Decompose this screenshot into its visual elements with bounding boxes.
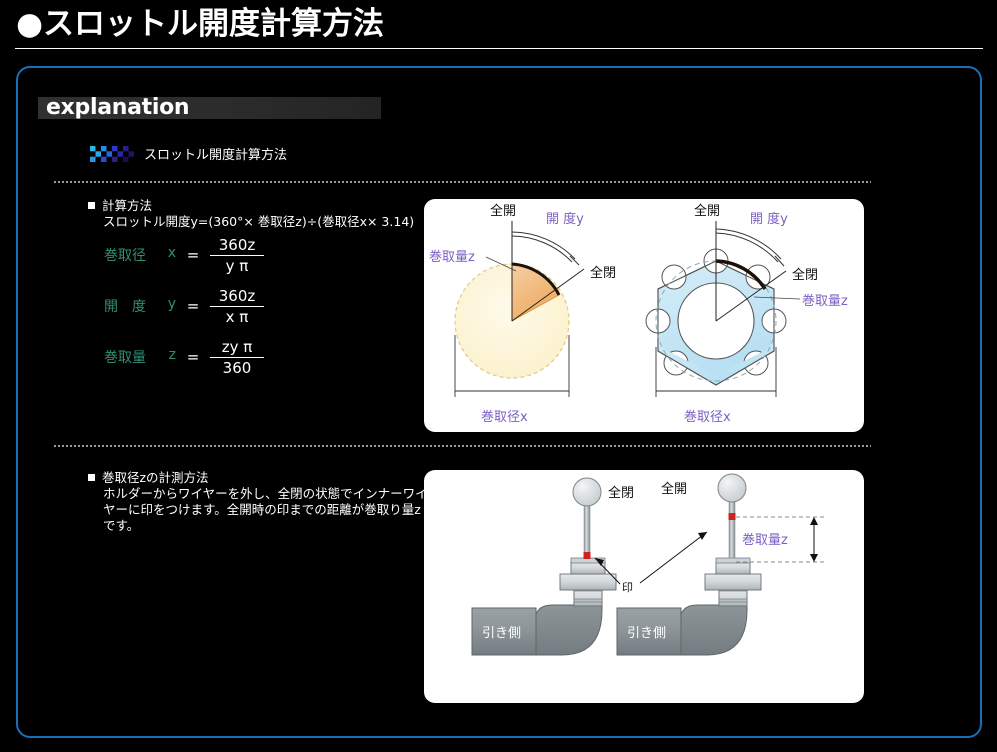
formula-fraction: zy π 360 — [210, 338, 264, 377]
subtitle-text: スロットル開度計算方法 — [144, 148, 287, 164]
section1-description: スロットル開度y=(360°× 巻取径z)÷(巻取径x× 3.14) — [103, 214, 414, 230]
dimension-label-z: 巻取量z — [742, 533, 788, 548]
formula-label: 開 度 y — [104, 296, 176, 316]
formula-equals: = — [176, 348, 210, 366]
right-label-angle: 開 度y — [750, 211, 788, 227]
fraction-denominator: 360 — [217, 358, 258, 377]
section-divider-1 — [54, 181, 871, 183]
right-throttle-assembly: 引き側 全開 — [617, 474, 761, 655]
formula-row: 開 度 y = 360z x π — [104, 283, 264, 329]
fraction-numerator: 360z — [213, 287, 262, 306]
section2-heading: 巻取径zの計測方法 — [88, 470, 209, 486]
left-label-full-closed: 全閉 — [590, 265, 616, 281]
formula-label: 巻取径 x — [104, 245, 176, 265]
right-wire-mark — [729, 513, 736, 520]
left-round-pulley: 全開 開 度y 全閉 巻取量z 巻取径x — [429, 203, 616, 425]
right-label-full-open: 全開 — [694, 203, 720, 219]
section2-line3: です。 — [103, 518, 139, 534]
right-label-pull-side: 引き側 — [627, 626, 666, 641]
winding-amount-dimension: 巻取量z — [736, 517, 824, 562]
bullet-square-icon — [88, 474, 95, 481]
formula-fraction: 360z x π — [210, 287, 264, 326]
formula-list: 巻取径 x = 360z y π 開 度 y = 360z x π — [104, 232, 264, 385]
formula-equals: = — [176, 246, 210, 264]
explanation-banner-label: explanation — [46, 93, 189, 123]
formula-fraction: 360z y π — [210, 236, 264, 275]
right-hex-pulley: 全開 開 度y 全閉 巻取量z 巻取径x — [646, 203, 848, 425]
diagram-panel-bottom: 引き側 全閉 — [424, 470, 864, 703]
left-label-angle: 開 度y — [546, 211, 584, 227]
left-throttle-assembly: 引き側 全閉 — [472, 478, 634, 655]
left-wire-mark — [584, 552, 591, 559]
section2-line2: ヤーに印をつけます。全開時の印までの距離が巻取り量z — [103, 502, 421, 518]
section2-line1: ホルダーからワイヤーを外し、全閉の状態でインナーワイ — [103, 486, 428, 502]
right-label-full-closed: 全閉 — [792, 267, 818, 283]
subtitle-row: スロットル開度計算方法 — [90, 146, 287, 166]
formula-label: 巻取量 z — [104, 347, 176, 367]
callout-label: 印 — [622, 581, 633, 594]
throttle-housing-diagram-svg: 引き側 全閉 — [424, 470, 864, 703]
checkerboard-icon — [90, 146, 134, 166]
right-label-diameter: 巻取径x — [684, 410, 731, 425]
left-label-full-open: 全開 — [490, 203, 516, 219]
page-title: ●スロットル開度計算方法 — [16, 2, 384, 46]
slide-root: ●スロットル開度計算方法 explanation — [0, 0, 997, 752]
bullet-square-icon — [88, 202, 95, 209]
left-label-state: 全閉 — [608, 485, 634, 501]
fraction-numerator: zy π — [216, 338, 259, 357]
fraction-numerator: 360z — [213, 236, 262, 255]
left-label-winding-amount: 巻取量z — [429, 250, 475, 265]
section1-heading: 計算方法 — [88, 198, 152, 214]
formula-row: 巻取量 z = zy π 360 — [104, 334, 264, 380]
right-label-winding-amount: 巻取量z — [802, 294, 848, 309]
formula-equals: = — [176, 297, 210, 315]
pulley-diagram-svg: 全開 開 度y 全閉 巻取量z 巻取径x — [424, 199, 864, 432]
section-divider-2 — [54, 445, 871, 447]
left-label-pull-side: 引き側 — [482, 626, 521, 641]
fraction-denominator: y π — [220, 256, 255, 275]
title-divider — [15, 48, 983, 49]
fraction-denominator: x π — [220, 307, 255, 326]
formula-row: 巻取径 x = 360z y π — [104, 232, 264, 278]
right-label-state: 全開 — [661, 481, 687, 497]
left-label-diameter: 巻取径x — [481, 410, 528, 425]
diagram-panel-top: 全開 開 度y 全閉 巻取量z 巻取径x — [424, 199, 864, 432]
